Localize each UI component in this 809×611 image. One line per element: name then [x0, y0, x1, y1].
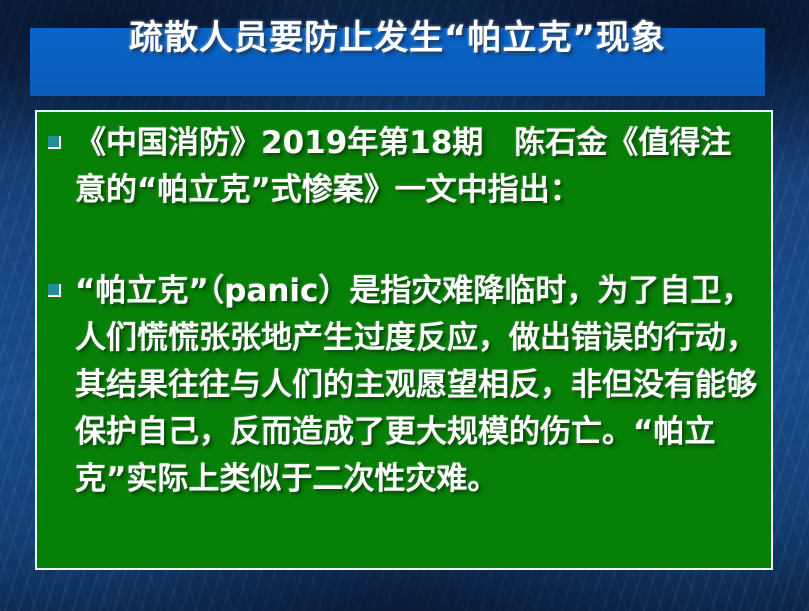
slide-title: 疏散人员要防止发生“帕立克”现象: [30, 16, 765, 61]
bullet-item-1-text: 《中国消防》2019年第18期 陈石金《值得注意的“帕立克”式惨案》一文中指出：: [75, 120, 760, 214]
bullet-item-2-text: “帕立克”（panic）是指灾难降临时，为了自卫，人们慌慌张张地产生过度反应，做…: [75, 268, 760, 503]
square-bullet-icon: [48, 284, 61, 297]
bullet-item-1: 《中国消防》2019年第18期 陈石金《值得注意的“帕立克”式惨案》一文中指出：: [48, 120, 760, 214]
square-bullet-icon: [48, 136, 61, 149]
presentation-slide: 疏散人员要防止发生“帕立克”现象 《中国消防》2019年第18期 陈石金《值得注…: [0, 0, 809, 611]
bullet-item-2: “帕立克”（panic）是指灾难降临时，为了自卫，人们慌慌张张地产生过度反应，做…: [48, 268, 760, 503]
